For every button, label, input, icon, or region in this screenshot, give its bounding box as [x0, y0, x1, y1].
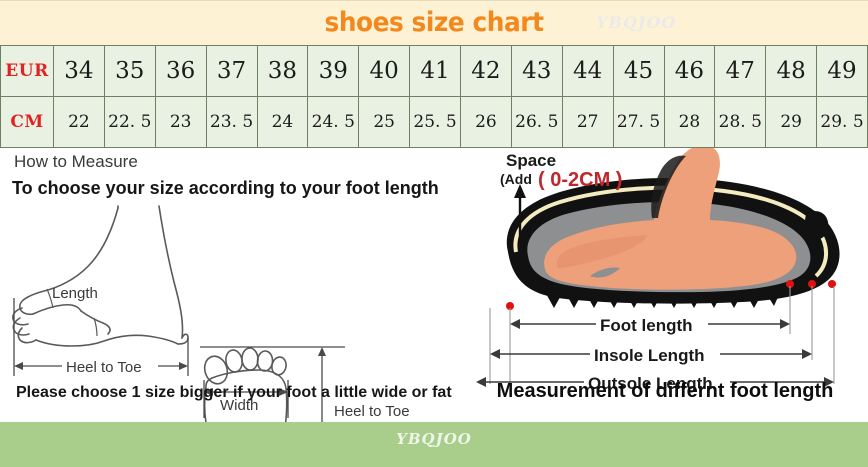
- cell-cm: 22: [54, 97, 105, 148]
- cell-eur: 42: [461, 46, 512, 97]
- cell-eur: 35: [104, 46, 155, 97]
- page-title: shoes size chart: [35, 7, 834, 38]
- space-value: ( 0-2CM ): [538, 169, 622, 191]
- cell-cm: 23: [155, 97, 206, 148]
- cell-cm: 27. 5: [613, 97, 664, 148]
- cell-eur: 48: [766, 46, 817, 97]
- insole-length-label: Insole Length: [594, 346, 705, 365]
- cell-eur: 46: [664, 46, 715, 97]
- cell-eur: 38: [257, 46, 308, 97]
- cell-cm: 28: [664, 97, 715, 148]
- cell-cm: 25. 5: [410, 97, 461, 148]
- table-row-eur: EUR 34 35 36 37 38 39 40 41 42 43 44 45 …: [1, 46, 868, 97]
- table-row-cm: CM 22 22. 5 23 23. 5 24 24. 5 25 25. 5 2…: [1, 97, 868, 148]
- foot-measurement-diagram: Length Heel to Toe: [0, 148, 462, 422]
- cell-eur: 39: [308, 46, 359, 97]
- cell-cm: 26: [461, 97, 512, 148]
- footer-watermark: YBQJOO: [0, 430, 868, 448]
- how-to-measure-panel: How to Measure To choose your size accor…: [0, 148, 462, 422]
- cell-eur: 43: [511, 46, 562, 97]
- diagram-panels: How to Measure To choose your size accor…: [0, 148, 868, 422]
- cell-cm: 26. 5: [511, 97, 562, 148]
- cell-cm: 24: [257, 97, 308, 148]
- size-table: EUR 34 35 36 37 38 39 40 41 42 43 44 45 …: [0, 45, 868, 148]
- foot-length-label: Foot length: [600, 316, 693, 335]
- cell-eur: 37: [206, 46, 257, 97]
- cell-cm: 27: [562, 97, 613, 148]
- cell-eur: 36: [155, 46, 206, 97]
- cell-cm: 25: [359, 97, 410, 148]
- cell-eur: 41: [410, 46, 461, 97]
- shoe-size-chart-page: shoes size chart YBQJOO EUR 34 35 36 37 …: [0, 0, 868, 467]
- foot-length-measurement-panel: Foot length Insole Length Outsole Length: [462, 148, 868, 422]
- title-band: shoes size chart YBQJOO: [0, 0, 868, 46]
- right-panel-caption: Measurement of differnt foot length: [462, 380, 868, 403]
- cell-eur: 44: [562, 46, 613, 97]
- heel-to-toe-label-side: Heel to Toe: [66, 359, 142, 376]
- cell-eur: 49: [817, 46, 868, 97]
- cell-eur: 45: [613, 46, 664, 97]
- row-label-eur: EUR: [1, 46, 54, 97]
- cell-cm: 22. 5: [104, 97, 155, 148]
- footer-band: YBQJOO: [0, 422, 868, 467]
- cell-cm: 24. 5: [308, 97, 359, 148]
- size-advice-note: Please choose 1 size bigger if your foot…: [16, 384, 452, 402]
- cell-cm: 29: [766, 97, 817, 148]
- space-label: Space: [506, 151, 556, 170]
- heel-to-toe-label-top: Heel to Toe: [334, 403, 410, 420]
- cell-eur: 47: [715, 46, 766, 97]
- row-label-cm: CM: [1, 97, 54, 148]
- cell-cm: 23. 5: [206, 97, 257, 148]
- cell-eur: 40: [359, 46, 410, 97]
- cell-cm: 28. 5: [715, 97, 766, 148]
- header-watermark: YBQJOO: [596, 13, 676, 32]
- cell-eur: 34: [54, 46, 105, 97]
- length-label: Length: [52, 285, 98, 302]
- cell-cm: 29. 5: [817, 97, 868, 148]
- space-add-label: (Add: [500, 171, 532, 187]
- measure-dot: [828, 280, 836, 288]
